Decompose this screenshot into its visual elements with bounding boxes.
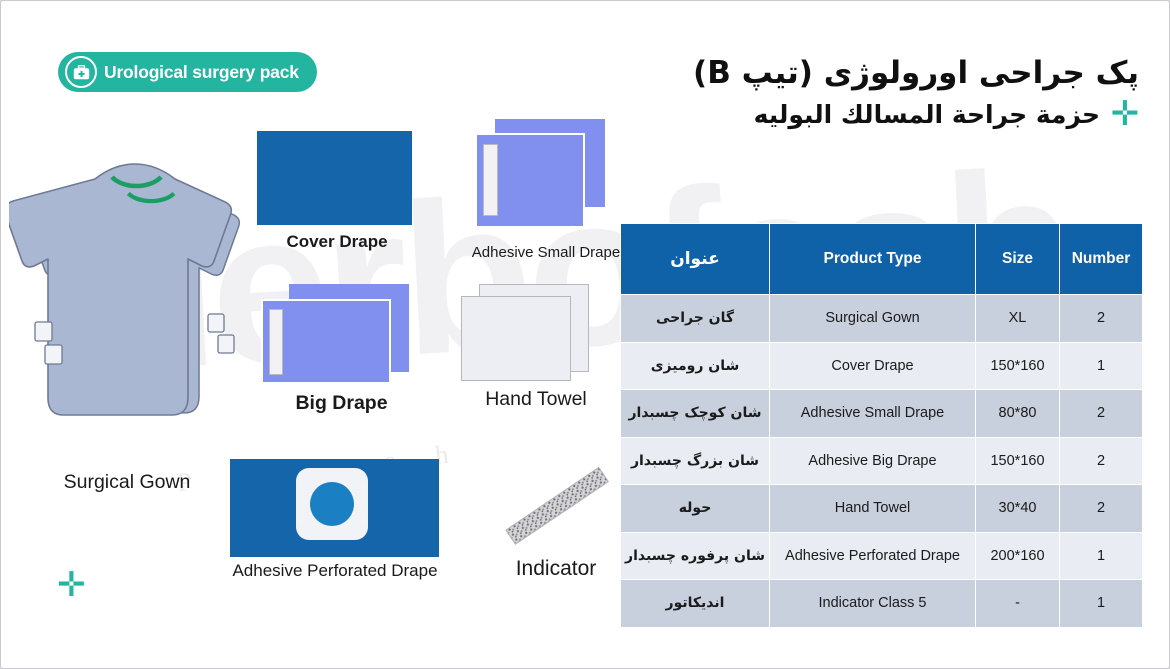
cell-type: Cover Drape <box>770 342 976 390</box>
figure-hand-towel: Hand Towel <box>461 284 609 414</box>
cell-type: Adhesive Small Drape <box>770 390 976 438</box>
figure-indicator: Indicator <box>491 456 621 586</box>
table-row: حوله Hand Towel 30*40 2 <box>621 485 1143 533</box>
product-table-wrap: عنوان Product Type Size Number گان جراحی… <box>620 223 1138 628</box>
cell-size: XL <box>976 295 1060 343</box>
caption-adhesive-small-drape: Adhesive Small Drape <box>466 244 626 261</box>
cell-type: Hand Towel <box>770 485 976 533</box>
figure-cover-drape: Cover Drape <box>257 131 417 251</box>
small-drape-front <box>475 133 585 228</box>
cell-title: شان بزرگ چسبدار <box>621 437 770 485</box>
cover-drape-shape <box>257 131 412 225</box>
table-header-row: عنوان Product Type Size Number <box>621 224 1143 295</box>
corner-plus-icon: ✛ <box>57 568 86 602</box>
cell-size: 200*160 <box>976 532 1060 580</box>
cell-number: 1 <box>1060 532 1143 580</box>
cell-type: Adhesive Big Drape <box>770 437 976 485</box>
cell-number: 2 <box>1060 390 1143 438</box>
medical-kit-icon <box>65 56 97 88</box>
figure-big-drape: Big Drape <box>259 284 424 414</box>
figure-adhesive-perforated-drape: Adhesive Perforated Drape <box>230 459 440 584</box>
cell-number: 1 <box>1060 342 1143 390</box>
cell-number: 2 <box>1060 437 1143 485</box>
caption-adhesive-perforated-drape: Adhesive Perforated Drape <box>215 561 455 581</box>
title-arabic-row: ✛ حزمة جراحة المسالك البولیه <box>693 94 1139 134</box>
col-header-size: Size <box>976 224 1060 295</box>
table-row: شان بزرگ چسبدار Adhesive Big Drape 150*1… <box>621 437 1143 485</box>
cell-size: 150*160 <box>976 342 1060 390</box>
table-row: شان کوچک چسبدار Adhesive Small Drape 80*… <box>621 390 1143 438</box>
cell-size: 30*40 <box>976 485 1060 533</box>
caption-surgical-gown: Surgical Gown <box>9 471 245 494</box>
cell-number: 2 <box>1060 485 1143 533</box>
figure-adhesive-small-drape: Adhesive Small Drape <box>471 119 621 254</box>
hand-towel-front <box>461 296 571 381</box>
cell-size: 80*80 <box>976 390 1060 438</box>
col-header-type: Product Type <box>770 224 976 295</box>
cell-number: 2 <box>1060 295 1143 343</box>
page-title-arabic: حزمة جراحة المسالك البولیه <box>754 100 1100 129</box>
cell-title: گان جراحی <box>621 295 770 343</box>
table-row: شان پرفوره چسبدار Adhesive Perforated Dr… <box>621 532 1143 580</box>
cell-title: اندیکاتور <box>621 580 770 628</box>
cell-type: Adhesive Perforated Drape <box>770 532 976 580</box>
cell-number: 1 <box>1060 580 1143 628</box>
caption-cover-drape: Cover Drape <box>247 232 427 252</box>
cell-title: شان کوچک چسبدار <box>621 390 770 438</box>
cell-type: Indicator Class 5 <box>770 580 976 628</box>
title-block: پک جراحی اورولوژی (تیپ B) ✛ حزمة جراحة ا… <box>693 53 1139 134</box>
caption-big-drape: Big Drape <box>249 392 434 415</box>
pack-badge-label: Urological surgery pack <box>104 62 299 83</box>
table-row: شان رومیزی Cover Drape 150*160 1 <box>621 342 1143 390</box>
col-header-title: عنوان <box>621 224 770 295</box>
pack-badge[interactable]: Urological surgery pack <box>58 52 317 92</box>
table-row: اندیکاتور Indicator Class 5 - 1 <box>621 580 1143 628</box>
cell-title: شان رومیزی <box>621 342 770 390</box>
figure-surgical-gown: Surgical Gown <box>9 159 245 499</box>
caption-hand-towel: Hand Towel <box>441 388 631 411</box>
big-drape-front <box>261 299 391 384</box>
table-row: گان جراحی Surgical Gown XL 2 <box>621 295 1143 343</box>
adhesive-strip-icon <box>269 309 283 375</box>
cell-size: 150*160 <box>976 437 1060 485</box>
cell-type: Surgical Gown <box>770 295 976 343</box>
slide-page: Herbofash P o l y s h m a t Urological s… <box>0 0 1170 669</box>
page-title-persian: پک جراحی اورولوژی (تیپ B) <box>693 53 1139 94</box>
adhesive-strip-icon <box>483 144 498 216</box>
cell-title: حوله <box>621 485 770 533</box>
fenestration-hole-icon <box>310 482 354 526</box>
cell-title: شان پرفوره چسبدار <box>621 532 770 580</box>
perforated-drape-shape <box>230 459 439 557</box>
col-header-number: Number <box>1060 224 1143 295</box>
cell-size: - <box>976 580 1060 628</box>
plus-icon: ✛ <box>1111 94 1140 134</box>
caption-indicator: Indicator <box>476 557 636 581</box>
product-table: عنوان Product Type Size Number گان جراحی… <box>620 223 1143 628</box>
